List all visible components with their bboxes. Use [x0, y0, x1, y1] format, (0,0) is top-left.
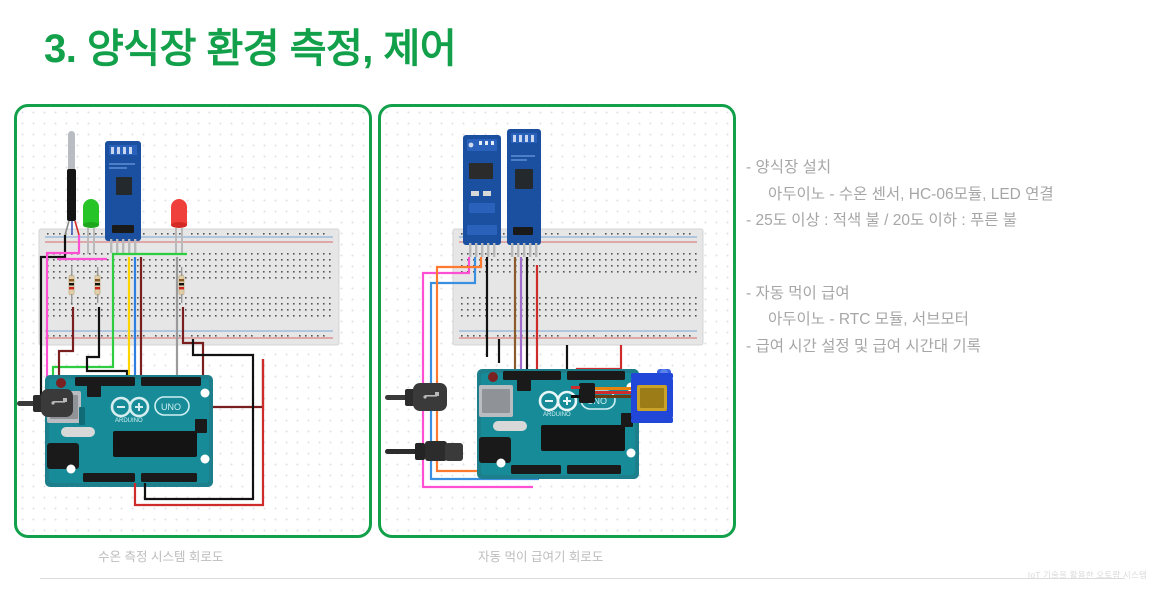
- usb-cable: [17, 389, 73, 417]
- auto-feeder-circuit-diagram: ARDUINO UNO: [381, 107, 733, 535]
- circuit-panel-water-temperature: ARDUINO UNO: [14, 104, 372, 538]
- notes-block: - 양식장 설치 아두이노 - 수온 센서, HC-06모듈, LED 연결 -…: [746, 160, 1156, 365]
- note-line-arduino-sensors: 아두이노 - 수온 센서, HC-06모듈, LED 연결: [746, 187, 1156, 203]
- note-line-temperature-thresholds: - 25도 이상 : 적색 불 / 20도 이하 : 푸른 불: [746, 213, 1156, 229]
- note-line-feeding-schedule: - 급여 시간 설정 및 급여 시간대 기록: [746, 339, 1156, 355]
- caption-water-temperature: 수온 측정 시스템 회로도: [98, 546, 223, 565]
- breadboard: [39, 229, 339, 345]
- arduino-uno: ARDUINO UNO: [477, 369, 639, 479]
- note-line-auto-feeding: - 자동 먹이 급여: [746, 286, 1156, 302]
- notes-spacer: [746, 240, 1156, 286]
- caption-auto-feeder: 자동 먹이 급여기 회로도: [478, 546, 603, 565]
- waterproof-temperature-probe: [65, 131, 79, 235]
- rtc-module: [463, 135, 501, 257]
- servo-motor: [631, 369, 673, 423]
- page-title: 3. 양식장 환경 측정, 제어: [44, 16, 456, 74]
- hc-06-bluetooth-module: [507, 129, 541, 257]
- circuit-panel-auto-feeder: ARDUINO UNO: [378, 104, 736, 538]
- usb-cable: [385, 383, 447, 411]
- note-line-arduino-rtc-servo: 아두이노 - RTC 모듈, 서브모터: [746, 312, 1156, 328]
- footer-label: IoT 기술을 활용한 오토팜 시스템: [1028, 569, 1147, 581]
- slide-root: 3. 양식장 환경 측정, 제어: [0, 0, 1165, 608]
- hc-06-bluetooth-module: [105, 141, 141, 253]
- breadboard: [453, 229, 703, 345]
- power-barrel-cable: [385, 441, 463, 461]
- water-temperature-circuit-diagram: ARDUINO UNO: [17, 107, 369, 535]
- svg-text:ARDUINO: ARDUINO: [115, 418, 143, 424]
- svg-text:ARDUINO: ARDUINO: [543, 412, 571, 418]
- footer-divider: [40, 578, 1125, 579]
- note-line-install: - 양식장 설치: [746, 160, 1156, 176]
- svg-text:UNO: UNO: [161, 402, 181, 412]
